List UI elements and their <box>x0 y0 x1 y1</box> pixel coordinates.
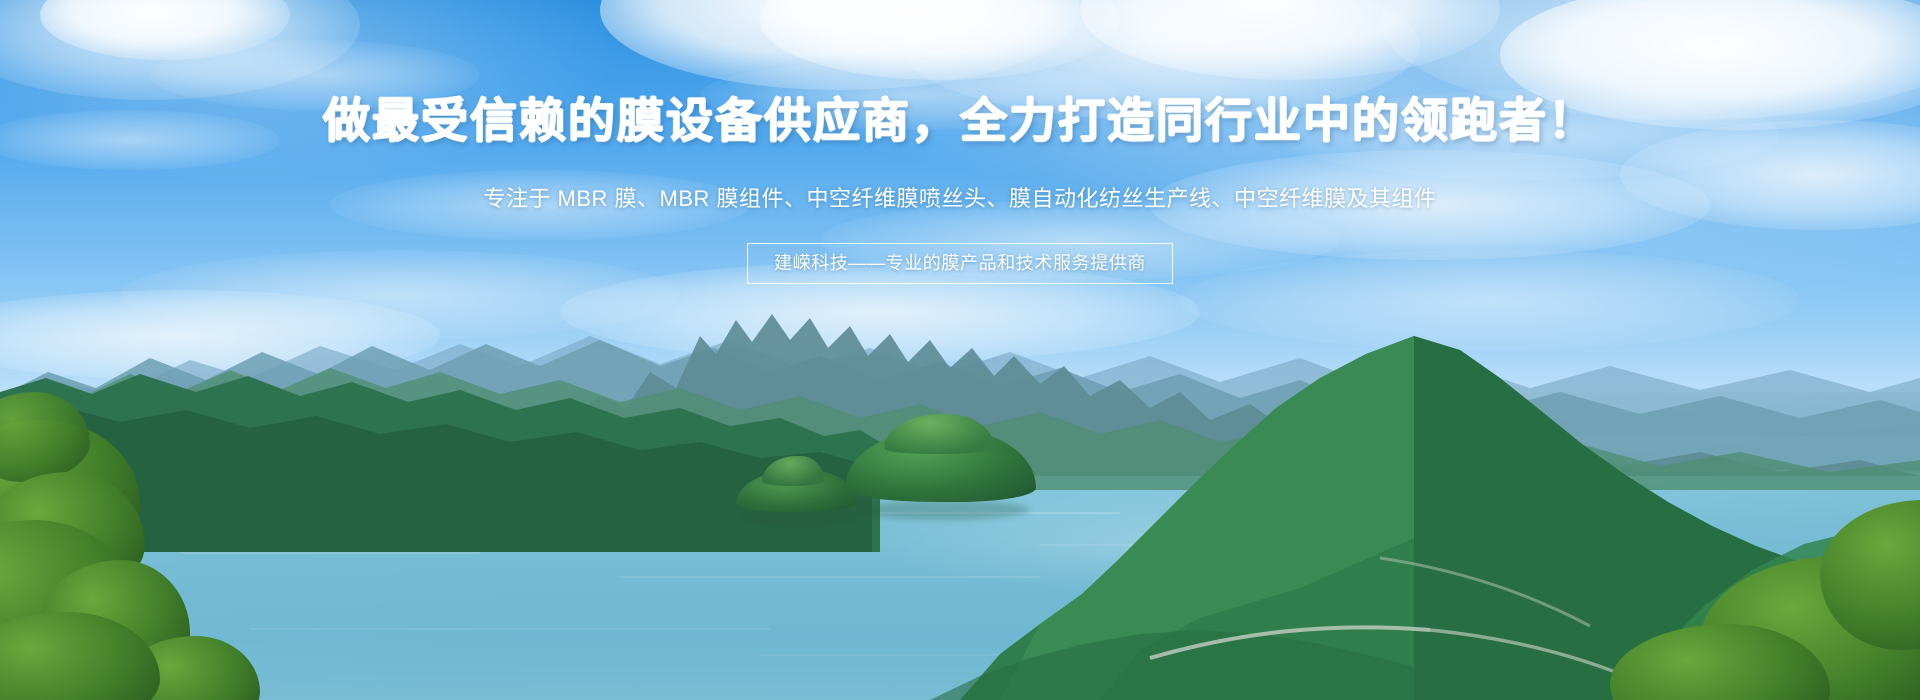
banner-tagline-box: 建嵘科技——专业的膜产品和技术服务提供商 <box>747 243 1173 284</box>
water-ripple <box>760 654 1220 656</box>
water-ripple <box>420 520 760 522</box>
hero-banner: 做最受信赖的膜设备供应商，全力打造同行业中的领跑者！ 专注于 MBR 膜、MBR… <box>0 0 1920 700</box>
island-reflection-center <box>854 500 1030 520</box>
water-ripple <box>180 552 480 554</box>
banner-subheadline: 专注于 MBR 膜、MBR 膜组件、中空纤维膜喷丝头、膜自动化纺丝生产线、中空纤… <box>0 188 1920 210</box>
banner-headline: 做最受信赖的膜设备供应商，全力打造同行业中的领跑者！ <box>0 98 1920 145</box>
sky-light-wash <box>0 0 1920 460</box>
water-ripple <box>250 628 770 630</box>
water-ripple <box>300 488 560 490</box>
water-ripple <box>620 576 1040 578</box>
island-reflection-left <box>742 510 852 526</box>
banner-tagline-wrapper: 建嵘科技——专业的膜产品和技术服务提供商 <box>0 243 1920 284</box>
water-ripple <box>1040 544 1340 546</box>
